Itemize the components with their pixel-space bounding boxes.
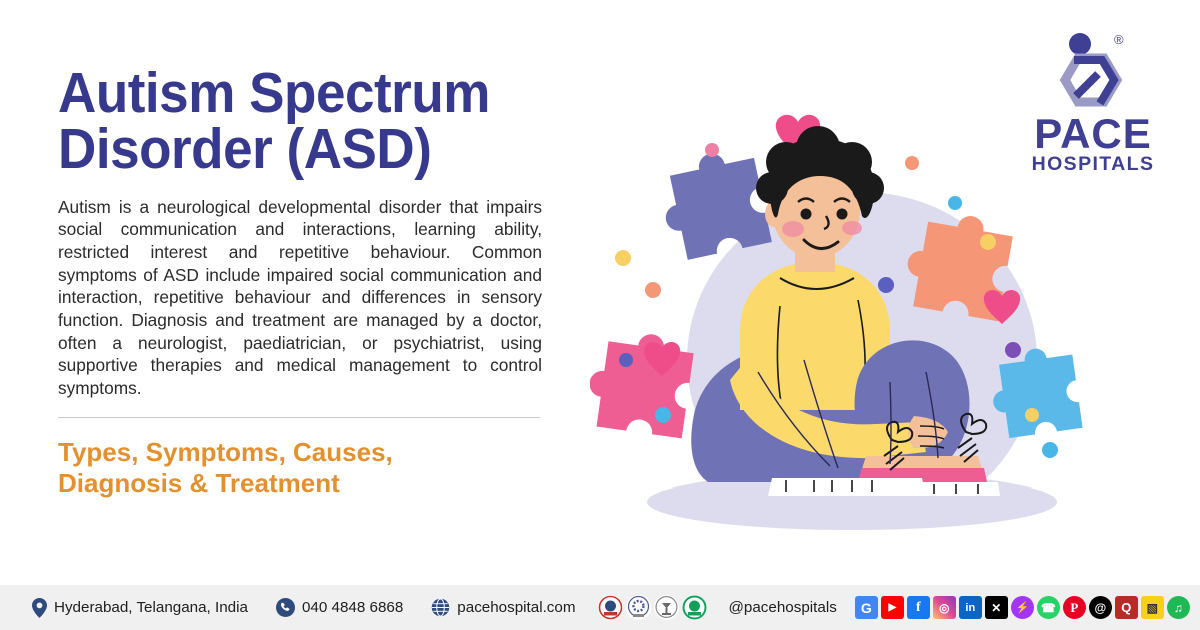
google-business-icon[interactable]: G <box>855 596 878 619</box>
whatsapp-icon[interactable]: ☎ <box>1037 596 1060 619</box>
footer-website-text: pacehospital.com <box>457 599 575 616</box>
dot <box>655 407 671 423</box>
infographic-canvas: Autism Spectrum Disorder (ASD) Autism is… <box>0 0 1200 630</box>
globe-icon <box>431 598 450 617</box>
dot <box>645 282 661 298</box>
accreditation-seal-jci <box>654 595 679 620</box>
linkedin-icon[interactable]: in <box>959 596 982 619</box>
shoe-sole <box>768 478 926 496</box>
hero-subtitle: Types, Symptoms, Causes, Diagnosis & Tre… <box>58 437 488 500</box>
dot <box>1005 342 1021 358</box>
dot <box>1025 408 1039 422</box>
dot <box>905 156 919 170</box>
hero-text-column: Autism Spectrum Disorder (ASD) Autism is… <box>58 66 558 500</box>
footer-location: Hyderabad, Telangana, India <box>32 598 248 618</box>
footer-website[interactable]: pacehospital.com <box>431 598 575 617</box>
dot <box>1042 442 1058 458</box>
puzzle-piece-purple <box>654 145 771 262</box>
child-eye-right <box>837 209 848 220</box>
x-twitter-icon[interactable]: ✕ <box>985 596 1008 619</box>
page-title: Autism Spectrum Disorder (ASD) <box>58 66 523 178</box>
autism-illustration <box>590 110 1110 540</box>
social-handle: @pacehospitals <box>729 599 837 616</box>
facebook-icon[interactable]: f <box>907 596 930 619</box>
quora-icon[interactable]: Q <box>1115 596 1138 619</box>
section-divider <box>58 417 540 418</box>
phone-icon <box>276 598 295 617</box>
child-eye-left <box>801 209 812 220</box>
hero-description: Autism is a neurological developmental d… <box>58 196 542 400</box>
accreditation-badges <box>598 595 707 620</box>
dot <box>948 196 962 210</box>
dot <box>980 234 996 250</box>
dot <box>615 250 631 266</box>
footer-location-text: Hyderabad, Telangana, India <box>54 599 248 616</box>
dot <box>619 353 633 367</box>
dot <box>705 143 719 157</box>
instagram-icon[interactable]: ◎ <box>933 596 956 619</box>
messenger-icon[interactable]: ⚡ <box>1011 596 1034 619</box>
logo-hexagon-icon: ® <box>1018 30 1168 112</box>
social-icons[interactable]: G ▶ f ◎ in ✕ ⚡ ☎ P @ Q ▧ ♫ <box>855 596 1190 619</box>
puzzle-piece-pink <box>590 327 695 439</box>
spotify-icon[interactable]: ♫ <box>1167 596 1190 619</box>
footer-phone[interactable]: 040 4848 6868 <box>276 598 403 617</box>
accreditation-seal-iso <box>682 595 707 620</box>
threads-icon[interactable]: @ <box>1089 596 1112 619</box>
footer-phone-text: 040 4848 6868 <box>302 599 403 616</box>
accreditation-seal-nabh <box>598 595 623 620</box>
location-pin-icon <box>32 598 47 618</box>
registered-trademark: ® <box>1114 32 1124 47</box>
accreditation-seal-nabl <box>626 595 651 620</box>
youtube-icon[interactable]: ▶ <box>881 596 904 619</box>
dot <box>878 277 894 293</box>
justdial-icon[interactable]: ▧ <box>1141 596 1164 619</box>
pinterest-icon[interactable]: P <box>1063 596 1086 619</box>
footer-bar: Hyderabad, Telangana, India 040 4848 686… <box>0 585 1200 630</box>
